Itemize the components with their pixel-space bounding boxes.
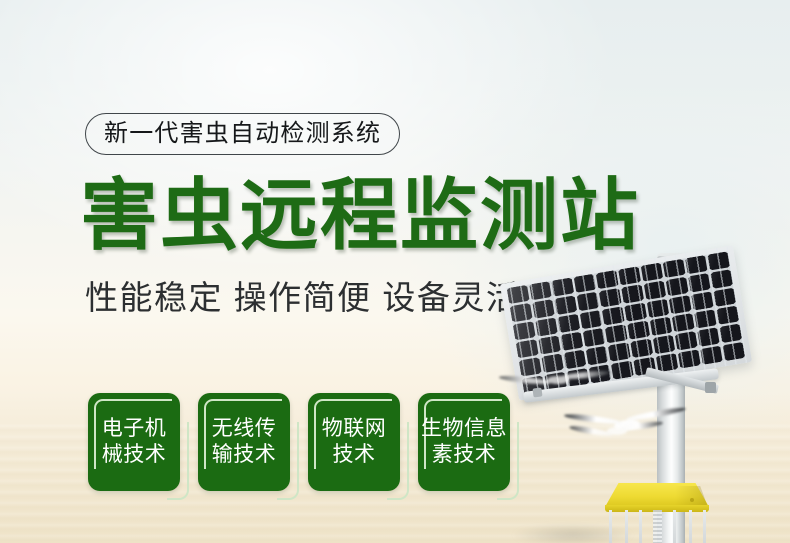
solar-cell xyxy=(532,299,555,319)
solar-cell xyxy=(697,327,720,347)
solar-cell xyxy=(519,357,542,377)
product-image-pest-monitoring-station xyxy=(505,238,790,543)
feature-badge-list: 电子机 械技术 无线传 输技术 物联网 技术 生物信息 素技术 xyxy=(88,393,510,491)
funnel-rod xyxy=(689,510,692,543)
funnel-rods xyxy=(605,510,709,543)
solar-cell xyxy=(577,292,600,312)
feature-badge-electromechanical[interactable]: 电子机 械技术 xyxy=(88,393,180,491)
solar-cell xyxy=(685,255,708,275)
tagline-text: 新一代害虫自动检测系统 xyxy=(104,122,381,146)
solar-cell xyxy=(707,251,730,271)
solar-cell xyxy=(649,317,672,337)
solar-cell xyxy=(688,273,711,293)
product-banner: 新一代害虫自动检测系统 害虫远程监测站 性能稳定 操作简便 设备灵活 电子机 械… xyxy=(0,0,790,543)
solar-cell xyxy=(678,349,701,369)
solar-cell xyxy=(691,291,714,311)
solar-cell xyxy=(554,295,577,315)
badge-label-line: 无线传 xyxy=(212,416,277,442)
bird-icon xyxy=(567,416,663,442)
solar-cell xyxy=(666,277,689,297)
solar-cell xyxy=(627,320,650,340)
badge-label-line: 素技术 xyxy=(432,442,497,468)
solar-cell xyxy=(596,270,619,290)
badge-label-line: 物联网 xyxy=(322,416,387,442)
feature-badge-pheromone[interactable]: 生物信息 素技术 xyxy=(418,393,510,491)
bird-wing xyxy=(569,424,613,438)
solar-cell xyxy=(563,350,586,370)
bird-body xyxy=(607,427,627,435)
funnel-rod xyxy=(609,510,612,543)
solar-cell xyxy=(580,310,603,330)
feature-badge-iot[interactable]: 物联网 技术 xyxy=(308,393,400,491)
subtitle: 性能稳定 操作简便 设备灵活 xyxy=(85,281,520,314)
solar-cell xyxy=(602,306,625,326)
corner-bracket-icon xyxy=(387,422,409,500)
solar-cell xyxy=(513,321,536,341)
funnel-rod xyxy=(639,510,642,543)
solar-cell xyxy=(700,345,723,365)
solar-cell xyxy=(652,335,675,355)
solar-cell xyxy=(710,269,733,289)
solar-cell xyxy=(599,288,622,308)
mounting-bolt xyxy=(532,387,542,397)
solar-cell xyxy=(541,353,564,373)
solar-cell xyxy=(624,302,647,322)
solar-cell xyxy=(538,335,561,355)
solar-cell xyxy=(675,331,698,351)
solar-cell xyxy=(557,314,580,334)
solar-cell xyxy=(646,299,669,319)
corner-bracket-icon xyxy=(167,422,189,500)
solar-cell xyxy=(719,324,742,344)
solar-cell xyxy=(672,313,695,333)
solar-cell xyxy=(716,306,739,326)
badge-label-line: 械技术 xyxy=(102,442,167,468)
solar-cell xyxy=(586,346,609,366)
badge-label-line: 生物信息 xyxy=(421,416,507,442)
solar-cell xyxy=(643,281,666,301)
funnel-center-shaft xyxy=(653,510,662,543)
solar-cell xyxy=(551,277,574,297)
solar-cell xyxy=(507,285,530,305)
solar-cell xyxy=(573,274,596,294)
solar-cell xyxy=(529,281,552,301)
solar-cell xyxy=(722,342,745,362)
funnel-rod xyxy=(673,510,676,543)
solar-cell xyxy=(583,328,606,348)
funnel-rod xyxy=(703,510,706,543)
bird-wing xyxy=(564,412,622,425)
solar-cell xyxy=(640,262,663,282)
badge-label-line: 电子机 xyxy=(102,416,167,442)
solar-cell xyxy=(516,339,539,359)
solar-cell xyxy=(630,338,653,358)
tagline-pill: 新一代害虫自动检测系统 xyxy=(85,113,400,155)
badge-label-line: 输技术 xyxy=(212,442,277,468)
solar-cell xyxy=(510,303,533,323)
solar-cell xyxy=(560,332,583,352)
solar-cell xyxy=(694,309,717,329)
mounting-bolt xyxy=(705,382,716,393)
badge-label-line: 技术 xyxy=(333,442,376,468)
solar-cell xyxy=(608,342,631,362)
feature-badge-wireless-transmission[interactable]: 无线传 输技术 xyxy=(198,393,290,491)
solar-cell xyxy=(713,287,736,307)
solar-cell xyxy=(605,324,628,344)
solar-cell xyxy=(611,360,634,380)
corner-bracket-icon xyxy=(277,422,299,500)
solar-cell xyxy=(618,266,641,286)
funnel-rod xyxy=(625,510,628,543)
solar-cell xyxy=(663,259,686,279)
solar-cell xyxy=(669,295,692,315)
trap-screw xyxy=(690,498,694,502)
bird-body xyxy=(614,419,641,432)
solar-cell xyxy=(535,317,558,337)
solar-cell xyxy=(621,284,644,304)
